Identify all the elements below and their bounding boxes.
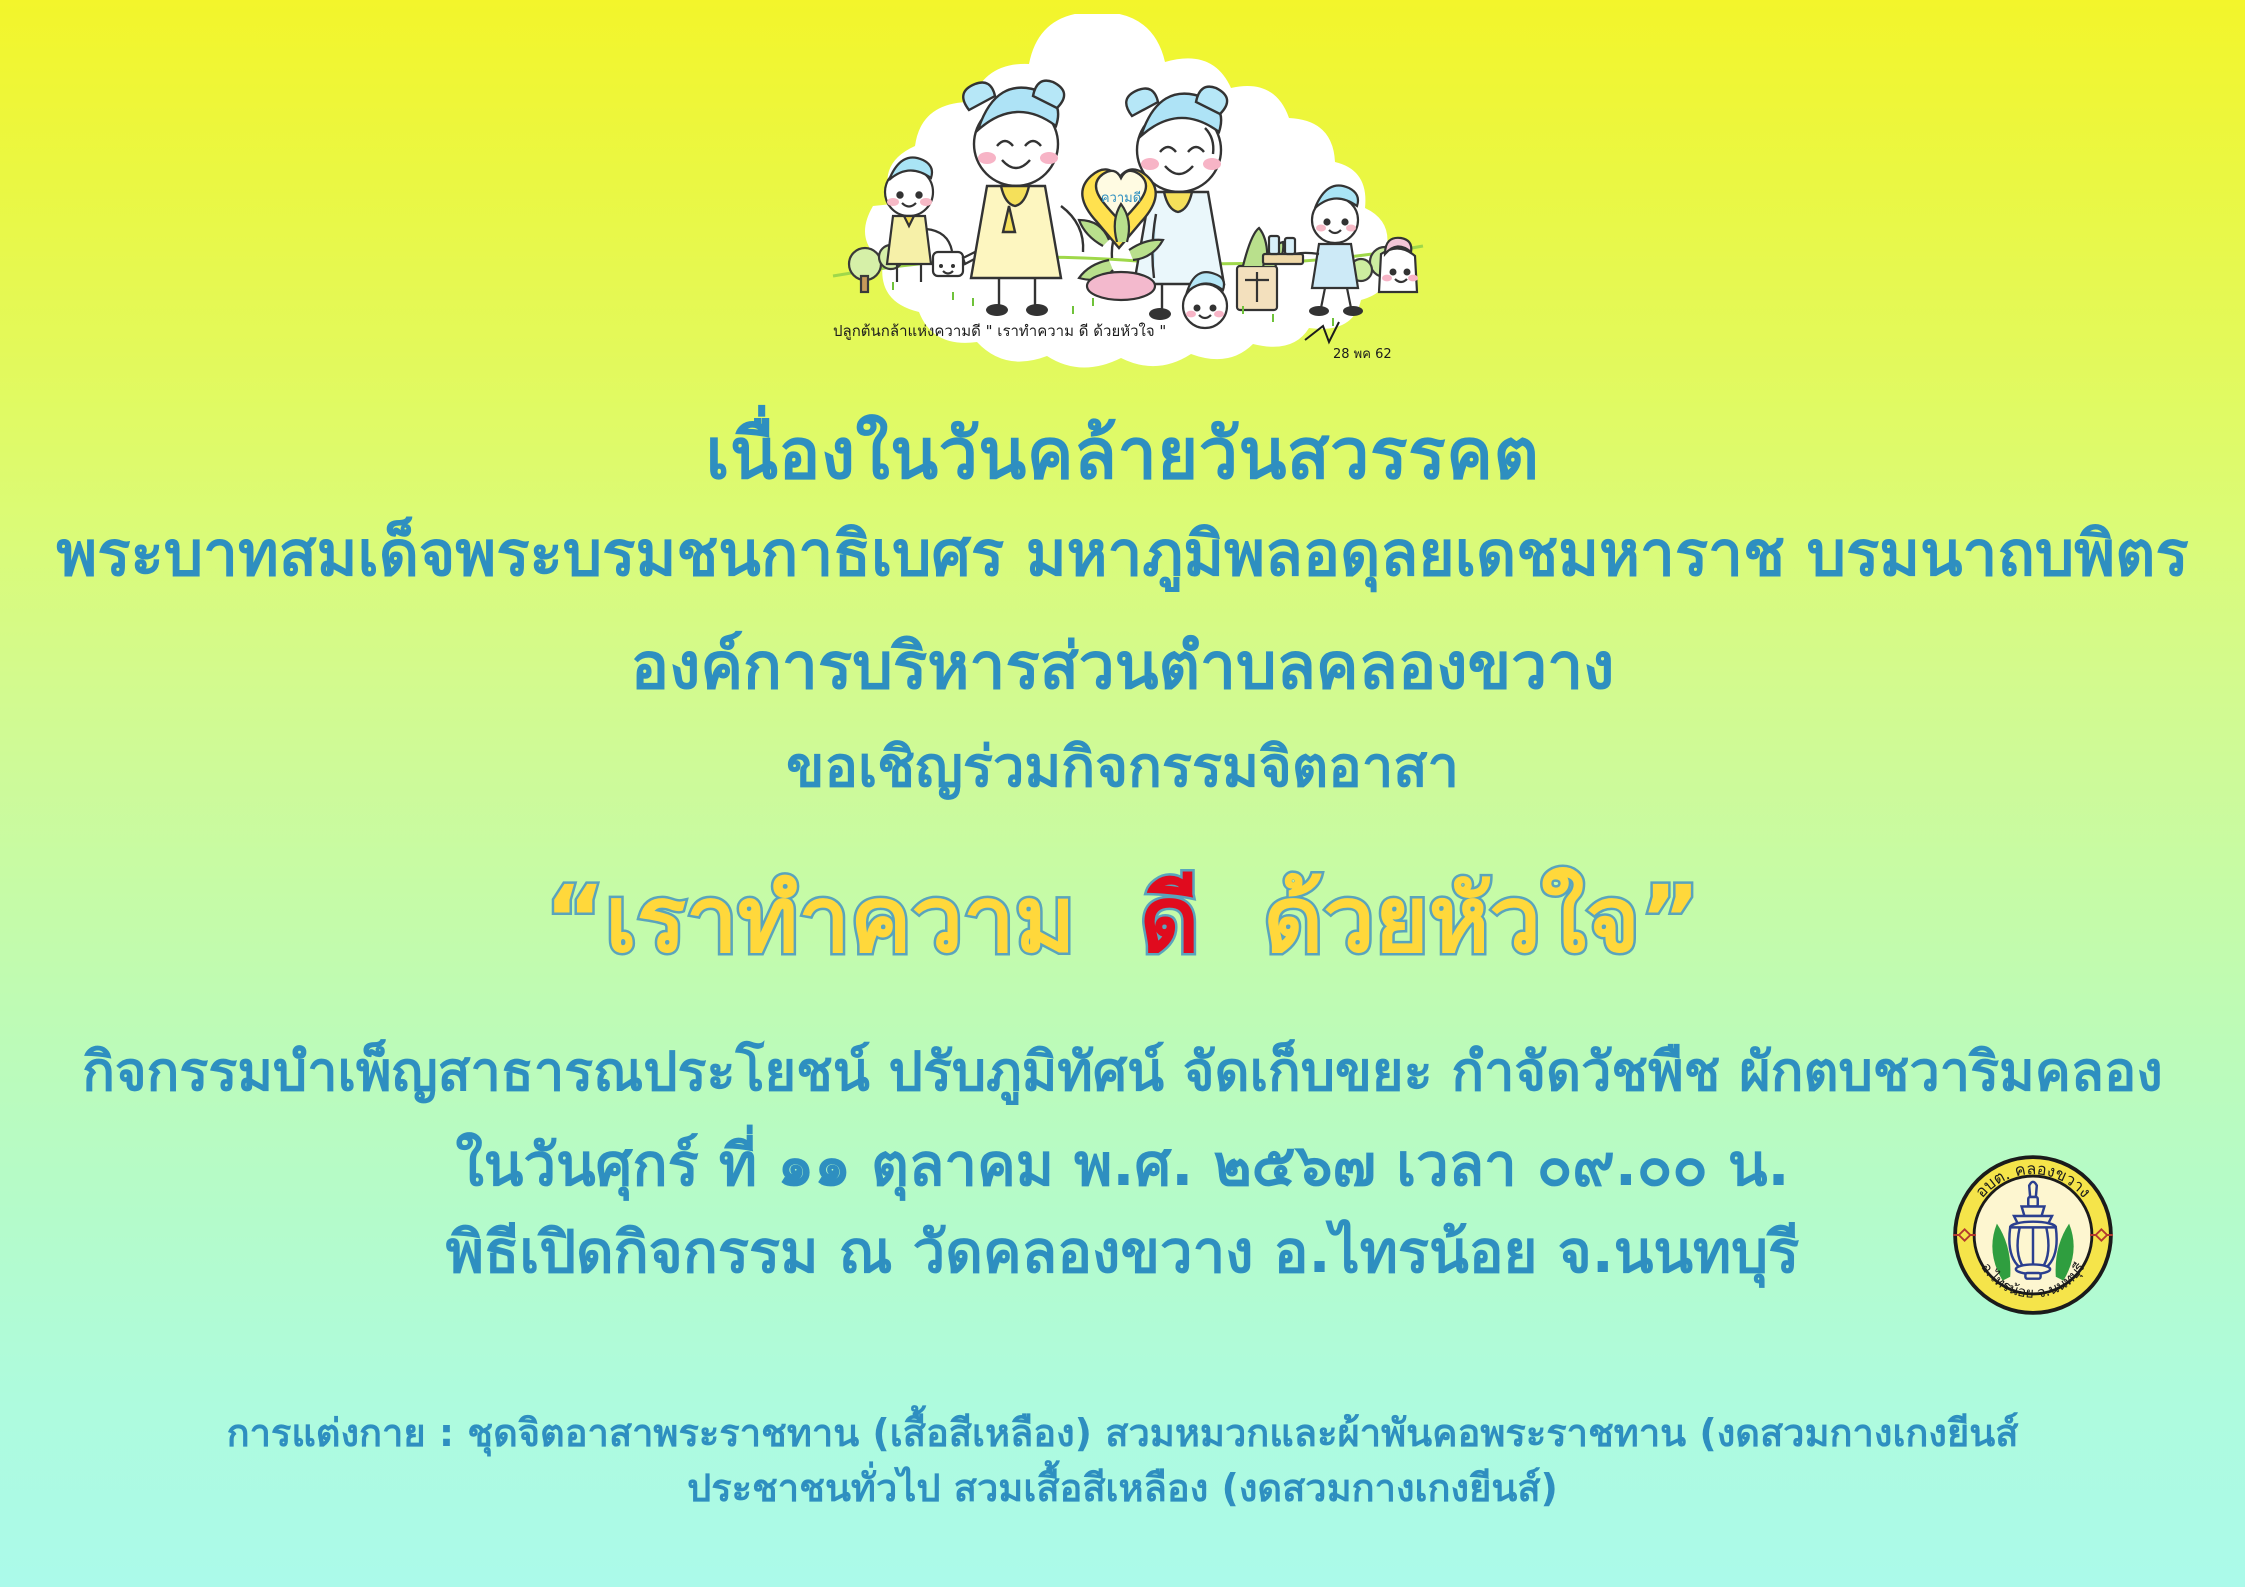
poster-canvas: ความดี [0,0,2245,1587]
organization-seal: อบต. คลองขวาง อ.ไทรน้อย จ.นนทบุรี [1938,1140,2128,1330]
dress-code-line-2: ประชาชนทั่วไป สวมเสื้อสีเหลือง (งดสวมกาง… [0,1457,2245,1518]
invitation-line: ขอเชิญร่วมกิจกรรมจิตอาสา [0,722,2245,811]
headline-line-2: พระบาทสมเด็จพระบรมชนกาธิเบศร มหาภูมิพลอด… [0,505,2245,603]
event-venue: พิธีเปิดกิจกรรม ณ วัดคลองขวาง อ.ไทรน้อย … [0,1205,2245,1298]
activity-description: กิจกรรมบำเพ็ญสาธารณประโยชน์ ปรับภูมิทัศน… [0,1028,2245,1114]
slogan-part-2: ด้วยหัวใจ [1263,866,1639,973]
volunteer-illustration: ความดี [773,14,1473,369]
slogan-close-quote: ” [1640,866,1700,973]
dress-code-line-1: การแต่งกาย : ชุดจิตอาสาพระราชทาน (เสื้อส… [0,1402,2245,1463]
svg-text:ปลูกต้นกล้าแห่งความดี " เราทำ: ปลูกต้นกล้าแห่งความดี " เราทำความ ดี ด้ว… [833,322,1166,340]
slogan-accent-word: ดี [1140,866,1200,973]
slogan-part-1: เราทำความ [605,866,1075,973]
slogan-open-quote: “ [545,866,605,973]
organization-name: องค์การบริหารส่วนตำบลคลองขวาง [0,615,2245,717]
slogan: “เราทำความ ดี ด้วยหัวใจ” [0,845,2245,992]
headline-line-1: เนื่องในวันคล้ายวันสวรรคต [0,398,2245,509]
event-datetime: ในวันศุกร์ ที่ ๑๑ ตุลาคม พ.ศ. ๒๕๖๗ เวลา … [0,1118,2245,1211]
signature-date: 28 พค 62 [1333,347,1392,362]
